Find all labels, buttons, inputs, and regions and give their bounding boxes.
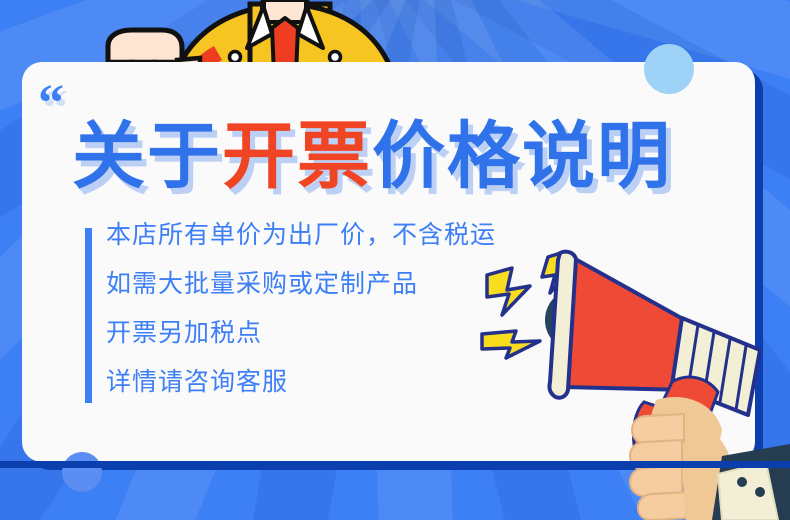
title-part-3: 价格说明	[372, 116, 672, 197]
decor-dot-topright	[644, 44, 694, 94]
megaphone-illustration	[460, 230, 790, 520]
title-part-1: 关于	[72, 116, 222, 197]
title-part-2: 开票	[222, 116, 372, 197]
decor-dot-bottomleft	[62, 452, 102, 492]
body-line: 开票另加税点	[106, 320, 496, 346]
body-accent-bar	[85, 228, 92, 403]
body-line: 本店所有单价为出厂价，不含税运	[106, 222, 496, 248]
body-line: 如需大批量采购或定制产品	[106, 271, 496, 297]
page-title: 关于开票价格说明	[72, 118, 732, 196]
bottom-band	[0, 461, 790, 468]
body-line: 详情请咨询客服	[106, 369, 496, 395]
body-text-list: 本店所有单价为出厂价，不含税运 如需大批量采购或定制产品 开票另加税点 详情请咨…	[106, 222, 496, 418]
quote-icon: “	[38, 78, 62, 130]
poster-canvas: “ 关于开票价格说明 本店所有单价为出厂价，不含税运 如需大批量采购或定制产品 …	[0, 0, 790, 520]
